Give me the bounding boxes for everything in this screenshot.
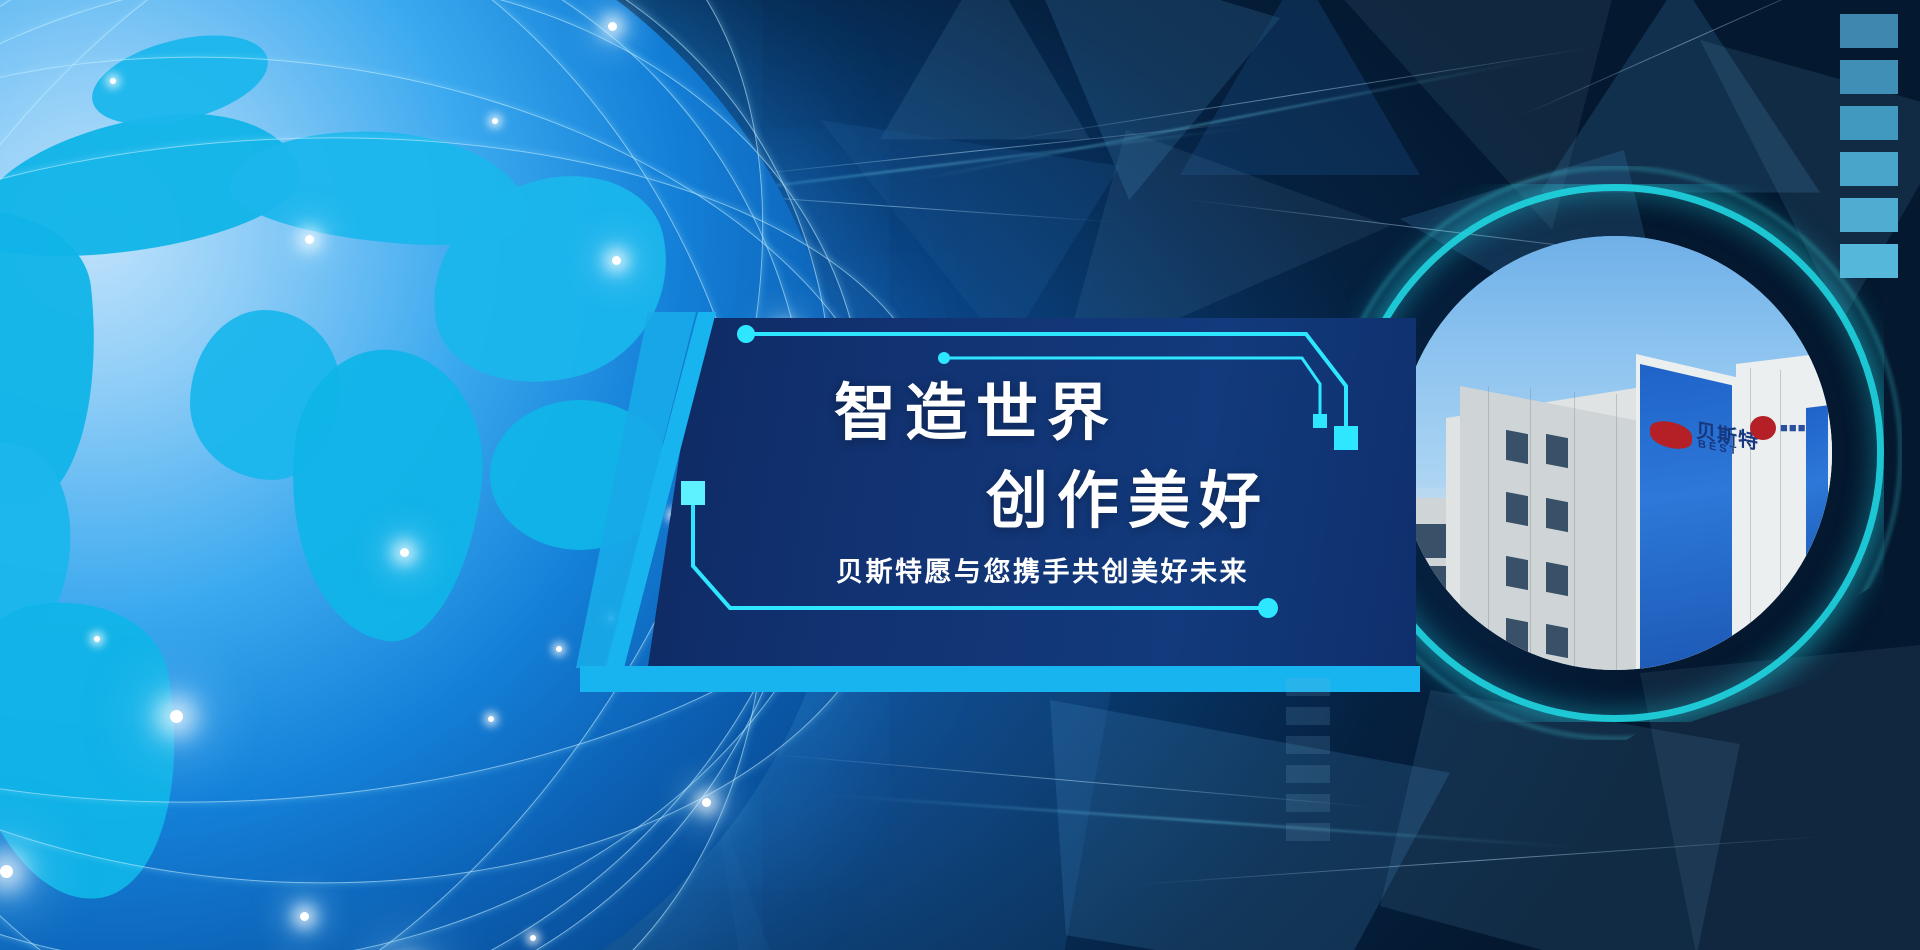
hero-subtitle: 贝斯特愿与您携手共创美好未来 xyxy=(836,550,1249,589)
lower-block xyxy=(1286,736,1330,754)
lower-decor-blocks xyxy=(1286,678,1330,852)
panel-text-block: 智造世界 创作美好 贝斯特愿与您携手共创美好未来 xyxy=(648,318,1416,666)
lower-block xyxy=(1286,765,1330,783)
secondary-sign-text: ■■■ xyxy=(1780,420,1807,435)
lower-block xyxy=(1286,707,1330,725)
lower-block xyxy=(1286,794,1330,812)
edge-block xyxy=(1840,60,1898,94)
edge-block xyxy=(1840,244,1898,278)
edge-block xyxy=(1840,152,1898,186)
hero-text-panel: 智造世界 创作美好 贝斯特愿与您携手共创美好未来 xyxy=(648,318,1416,666)
edge-block xyxy=(1840,198,1898,232)
edge-decor-blocks xyxy=(1840,14,1898,290)
hero-title-line-1: 智造世界 xyxy=(834,362,1118,452)
building-photo: 贝斯特 BEST ■■■ 热烈欢迎前来视察指导 xyxy=(1398,236,1832,670)
lower-block xyxy=(1286,823,1330,841)
hero-title-line-2: 创作美好 xyxy=(986,450,1270,540)
edge-block xyxy=(1840,14,1898,48)
hero-banner: 贝斯特 BEST ■■■ 热烈欢迎前来视察指导 xyxy=(0,0,1920,950)
lower-block xyxy=(1286,678,1330,696)
edge-block xyxy=(1840,106,1898,140)
secondary-logo-mark xyxy=(1750,416,1776,440)
company-photo-circle: 贝斯特 BEST ■■■ 热烈欢迎前来视察指导 xyxy=(1368,206,1862,700)
